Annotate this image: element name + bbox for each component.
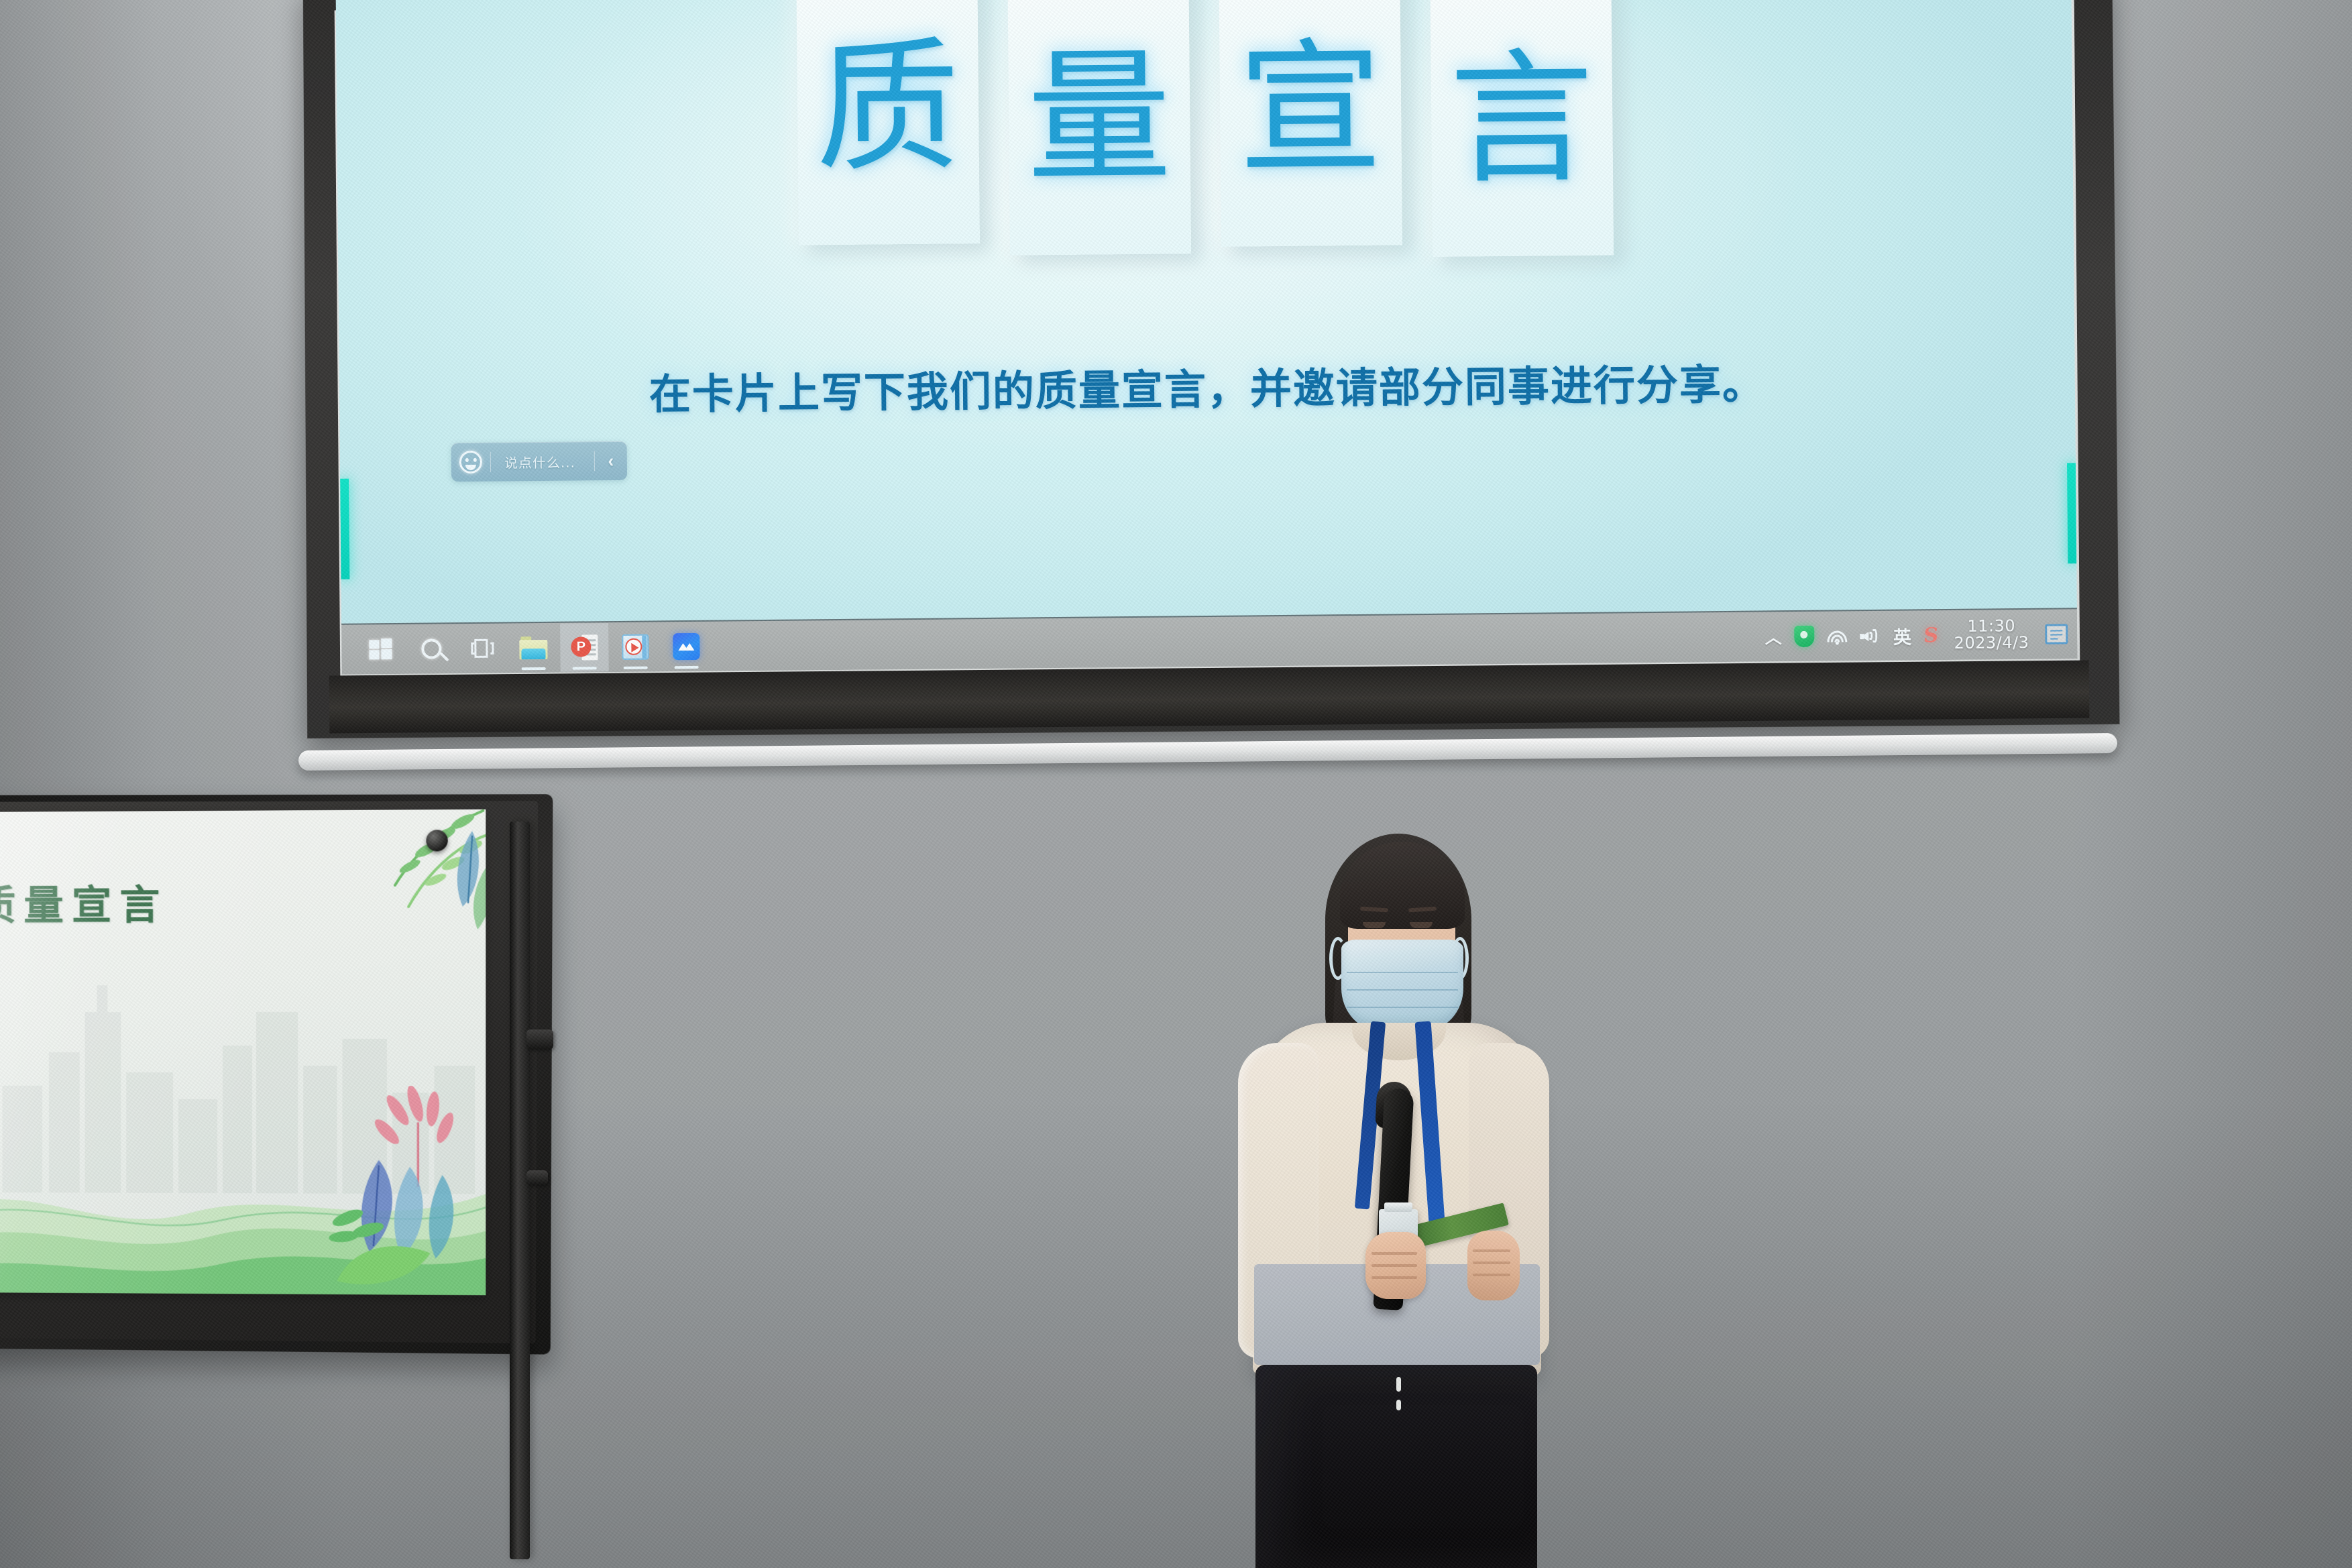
hand-holding-card [1467,1231,1520,1300]
poster-board-assembly: 质量宣言 [0,795,604,1568]
eye-left [1363,922,1386,928]
surgical-mask [1341,940,1463,1031]
sogou-ime-icon[interactable]: S [1922,624,1939,647]
leaf-cluster-multicolor [317,1086,486,1288]
search-button[interactable] [407,624,456,673]
file-explorer-button[interactable] [509,624,558,673]
hand-holding-microphone [1365,1232,1426,1299]
system-tray: ︿ 英 S 11:30 2023/4/3 [1765,617,2078,654]
easel-adjust-knob[interactable] [526,1029,553,1050]
mountain-app-icon [673,633,699,660]
wifi-icon[interactable] [1826,627,1848,645]
easel-support-post [510,822,530,1559]
title-card: 质 [796,0,980,245]
slide-title-cards: 质 量 宣 言 [335,0,2074,267]
chevron-left-icon[interactable]: ‹ [595,450,627,471]
windows-logo-icon [369,638,392,660]
media-player-icon [622,634,649,660]
projected-desktop[interactable]: 质 量 宣 言 在卡片上写下我们的质量宣言，并邀请部分同事进行分享。 [335,0,2077,675]
black-skirt [1255,1365,1537,1568]
slide-accent-bar-right [2067,463,2076,563]
round-magnet-pin [426,830,447,851]
title-card-char: 量 [1026,44,1172,190]
presenter-person [1221,822,1569,1568]
comment-input[interactable]: 说点什么... [491,451,594,471]
ime-indicator[interactable]: 英 [1893,622,1911,649]
comment-widget[interactable]: 说点什么... ‹ [451,441,628,482]
slide-subtitle: 在卡片上写下我们的质量宣言，并邀请部分同事进行分享。 [339,347,2076,423]
speaker-icon[interactable] [1860,626,1881,645]
projection-screen-assembly: 质 量 宣 言 在卡片上写下我们的质量宣言，并邀请部分同事进行分享。 [305,0,2116,731]
eye-right [1410,922,1433,928]
taskbar-pinned-items: P [341,622,711,674]
powerpoint-icon: P [571,634,598,661]
powerpoint-slide[interactable]: 质 量 宣 言 在卡片上写下我们的质量宣言，并邀请部分同事进行分享。 [335,0,2077,624]
title-card: 言 [1430,0,1614,257]
green-shield-icon[interactable] [1794,626,1814,647]
projection-screen-roller-bar [298,733,2117,771]
title-card-char: 言 [1449,46,1594,191]
task-view-button[interactable] [458,624,507,673]
meeting-room-scene: 质 量 宣 言 在卡片上写下我们的质量宣言，并邀请部分同事进行分享。 [0,0,2352,1568]
title-card: 量 [1007,0,1191,256]
chevron-up-icon[interactable]: ︿ [1765,624,1782,649]
media-player-button[interactable] [611,622,660,671]
title-card: 宣 [1219,0,1402,247]
start-button[interactable] [356,625,405,674]
task-view-icon [471,639,494,658]
poster-title: 质量宣言 [0,873,168,932]
clock-date: 2023/4/3 [1954,634,2029,652]
easel-adjust-knob[interactable] [526,1170,548,1185]
search-icon [421,638,441,659]
title-card-char: 质 [815,34,960,180]
title-card-char: 宣 [1237,36,1383,181]
slide-accent-bar-left [340,479,349,579]
quality-declaration-poster: 质量宣言 [0,809,486,1295]
clock-time: 11:30 [1967,618,2015,635]
powerpoint-button[interactable]: P [560,623,609,672]
notification-panel-icon[interactable] [2045,624,2068,644]
leaf-cluster-green [327,809,486,960]
folder-icon [519,636,547,659]
clock[interactable]: 11:30 2023/4/3 [1950,617,2033,652]
blue-app-button[interactable] [662,622,711,671]
smiley-face-icon[interactable] [451,451,490,474]
